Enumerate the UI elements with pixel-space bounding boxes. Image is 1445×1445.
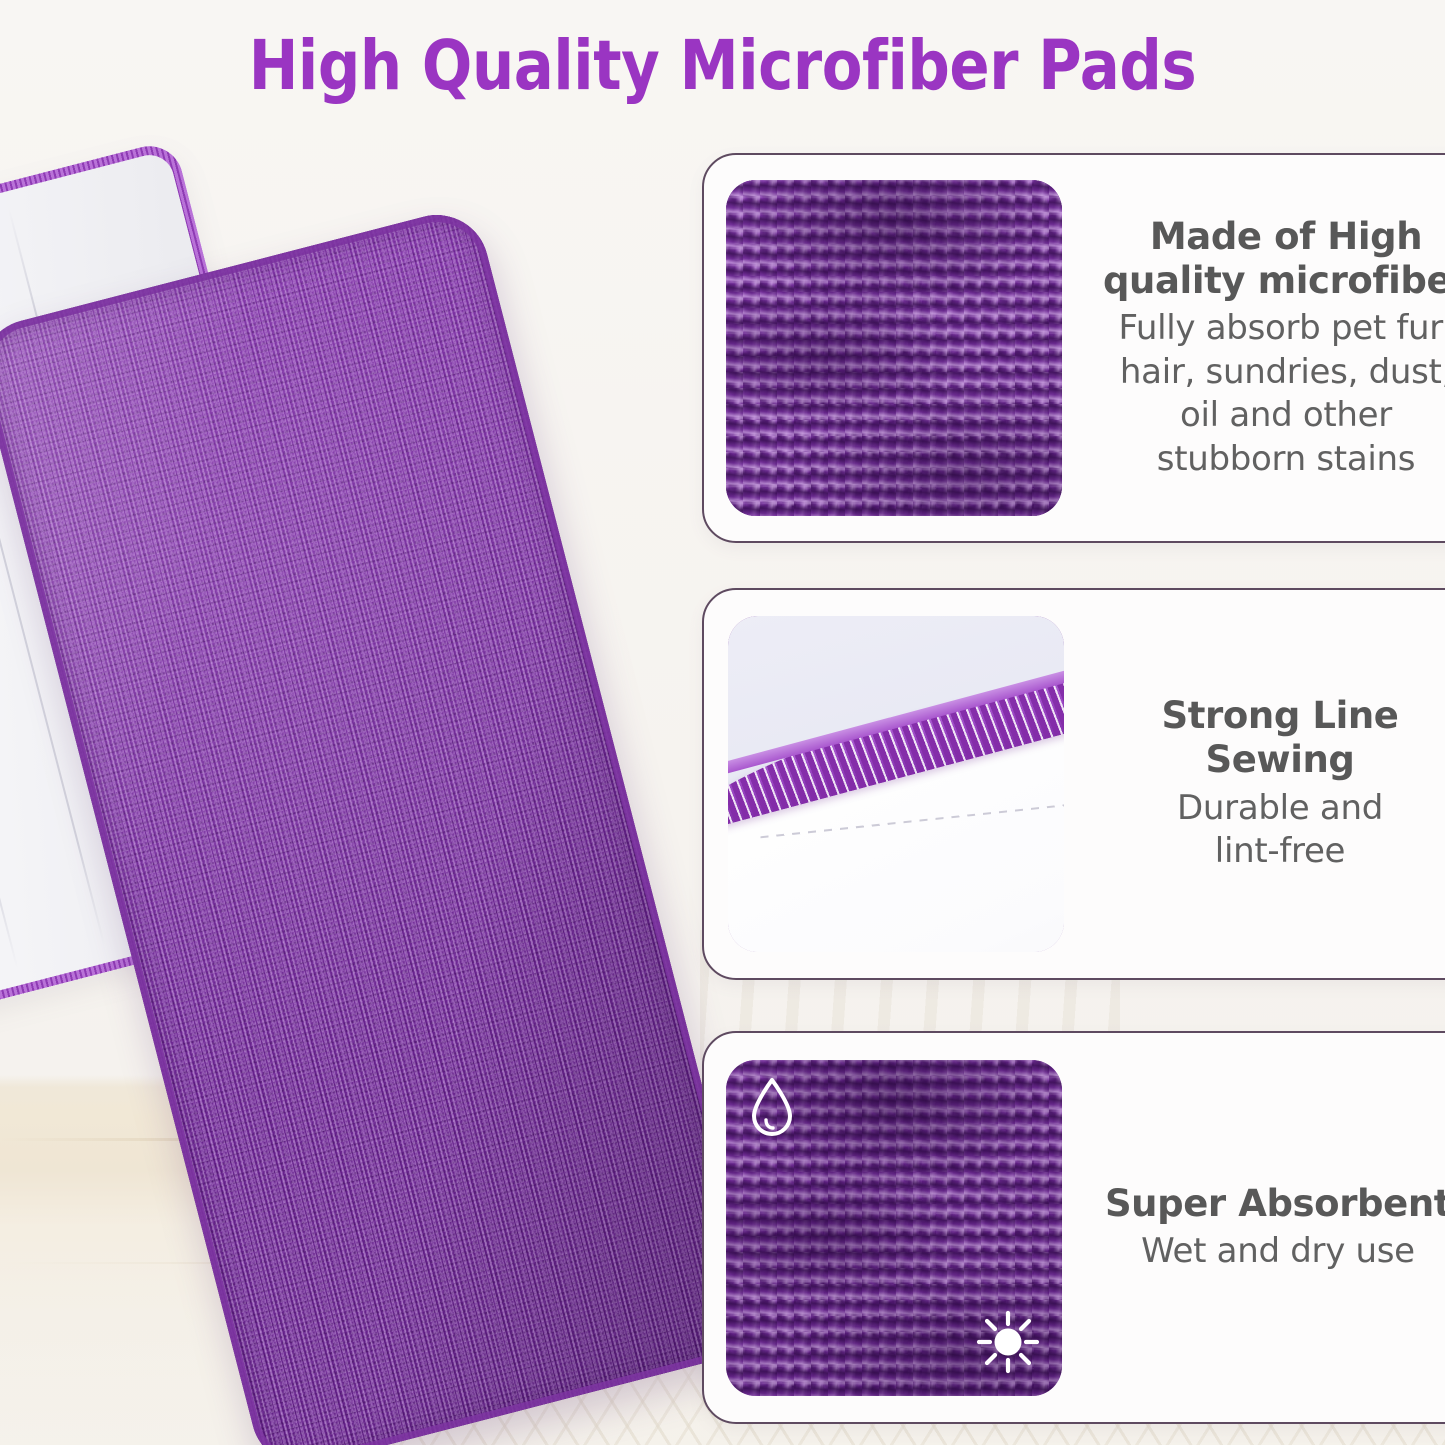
feature-body-line: Durable and	[1177, 788, 1383, 828]
feature-title-line: Sewing	[1205, 738, 1354, 781]
sewing-photo	[728, 616, 1064, 952]
feature-text-absorbent: Super Absorbent Wet and dry use	[1062, 1182, 1445, 1274]
page-title: High Quality Microfiber Pads	[101, 26, 1344, 106]
feature-body-line: lint-free	[1215, 831, 1345, 871]
feature-body-line: Fully absorb pet fur,	[1118, 308, 1445, 348]
hero-product-photo	[0, 150, 680, 1400]
pad-bound-edge	[0, 204, 769, 1445]
feature-body-line: hair, sundries, dust,	[1120, 352, 1445, 392]
feature-body-line: stubborn stains	[1157, 439, 1415, 479]
feature-title-line: Strong Line	[1161, 694, 1398, 737]
purple-microfiber-mop-pad	[0, 204, 769, 1445]
water-drop-icon	[746, 1076, 798, 1138]
microfiber-closeup-thumbnail	[726, 180, 1062, 516]
feature-body: Wet and dry use	[1068, 1230, 1445, 1274]
feature-title: Super Absorbent	[1068, 1182, 1445, 1226]
feature-card-absorbent[interactable]: Super Absorbent Wet and dry use	[702, 1031, 1445, 1424]
feature-card-microfiber[interactable]: Made of High quality microfiber Fully ab…	[702, 153, 1445, 543]
feature-body: Fully absorb pet fur, hair, sundries, du…	[1076, 307, 1445, 481]
feature-body: Durable and lint-free	[1070, 787, 1445, 874]
feature-body-line: oil and other	[1180, 395, 1392, 435]
feature-title-line: quality microfiber	[1103, 259, 1445, 302]
feature-title: Made of High quality microfiber	[1076, 215, 1445, 304]
texture-shading	[726, 180, 1062, 516]
feature-text-microfiber: Made of High quality microfiber Fully ab…	[1062, 215, 1445, 482]
stitch-line	[760, 799, 1064, 839]
absorbent-microfiber-thumbnail	[726, 1060, 1062, 1396]
sun-icon	[976, 1310, 1040, 1374]
feature-title-line: Made of High	[1150, 215, 1422, 258]
feature-card-sewing[interactable]: Strong Line Sewing Durable and lint-free	[702, 588, 1445, 980]
stitched-edge-closeup-thumbnail	[728, 616, 1064, 952]
feature-title: Strong Line Sewing	[1070, 694, 1445, 783]
product-infographic: High Quality Microfiber Pads Made of Hig…	[0, 0, 1445, 1445]
feature-text-sewing: Strong Line Sewing Durable and lint-free	[1064, 694, 1445, 874]
